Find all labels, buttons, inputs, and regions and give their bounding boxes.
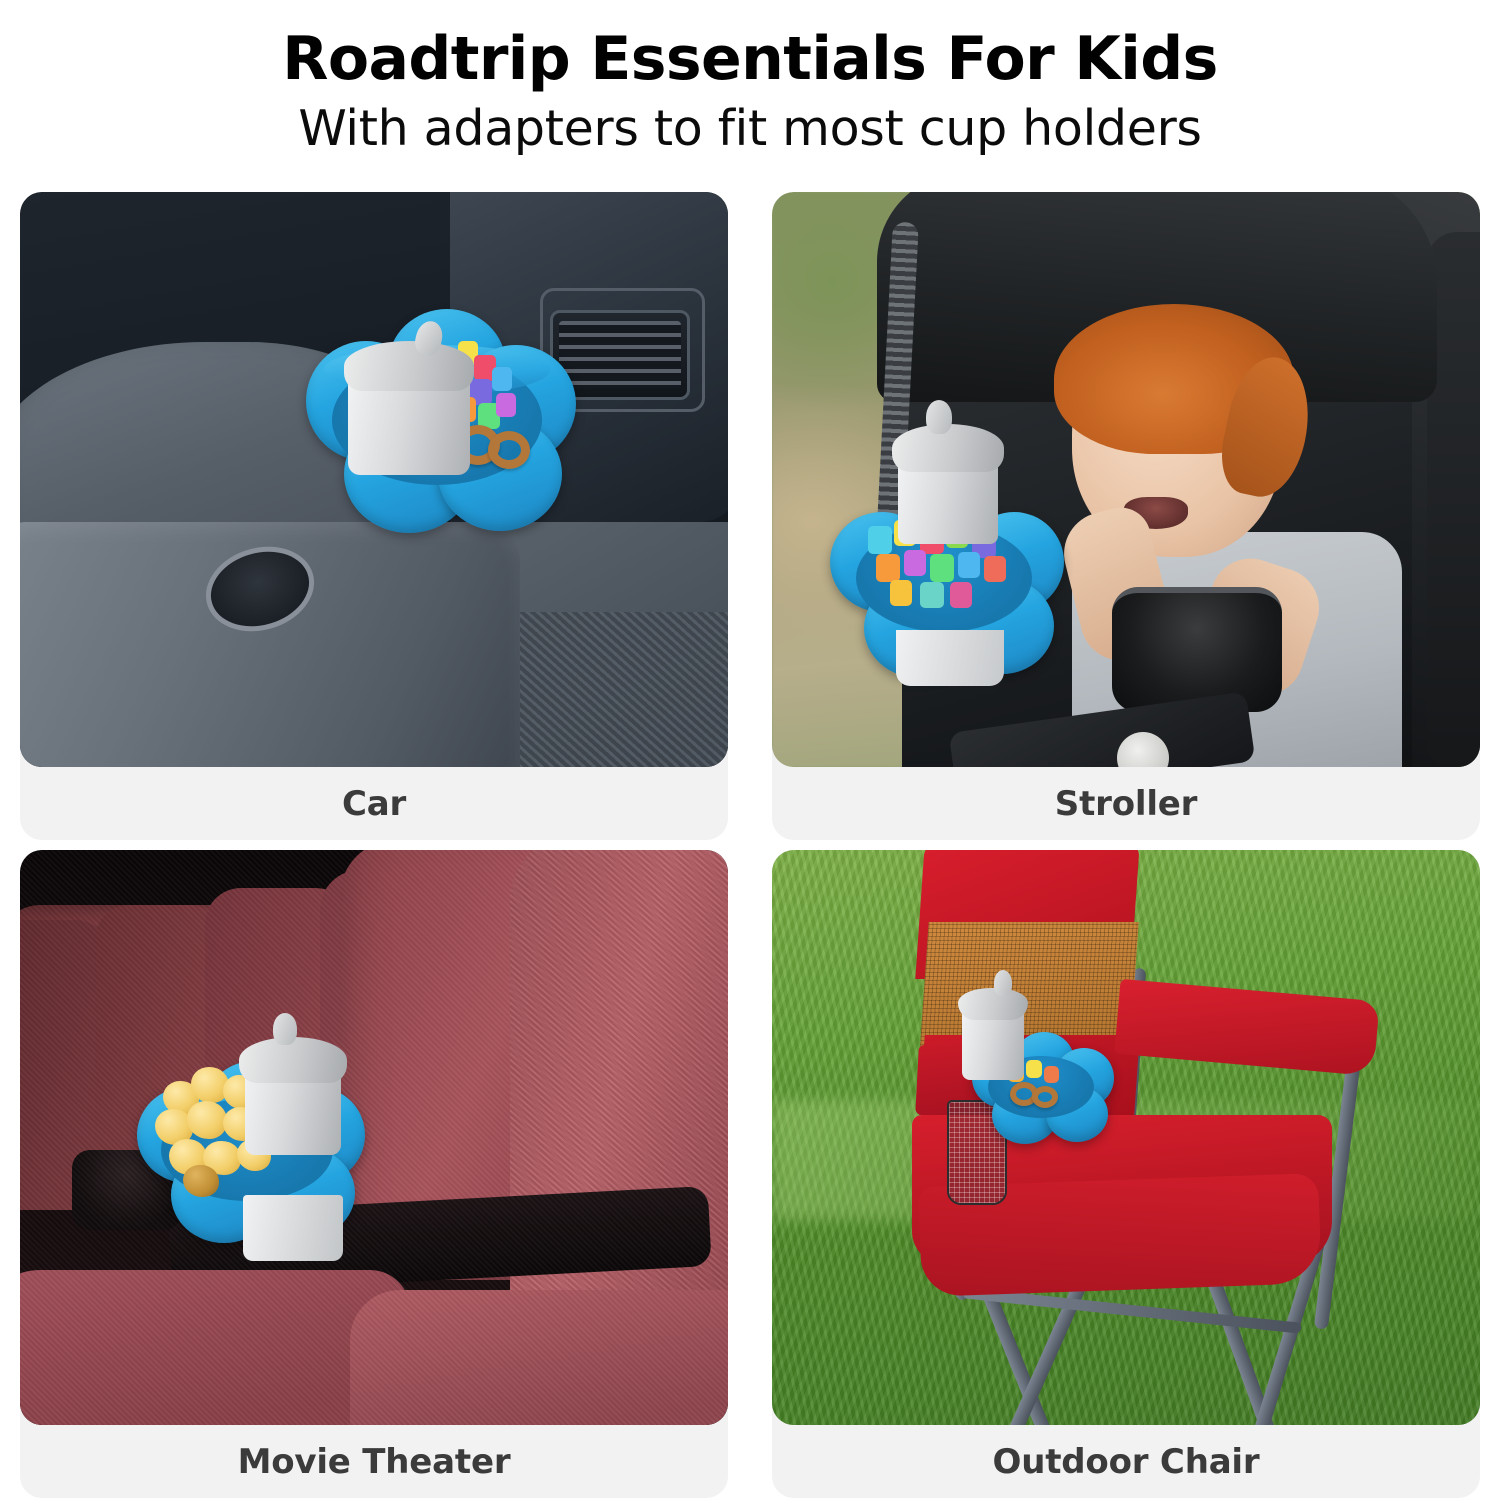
use-case-card-stroller[interactable]: Stroller <box>772 192 1480 840</box>
outdoor-scene <box>772 850 1480 1425</box>
gummy-snack <box>958 552 980 578</box>
sippy-cup-lid <box>958 988 1028 1020</box>
gummy-snack <box>984 556 1006 582</box>
snack-tray-product-stroller <box>824 482 1064 682</box>
snack-tray-product-outdoor <box>970 1030 1120 1150</box>
gummy-snack <box>868 526 892 554</box>
sippy-cup-spout <box>926 400 952 434</box>
sippy-cup-spout <box>994 970 1012 996</box>
snack-piece <box>1026 1060 1042 1078</box>
cup-holder-adapter <box>896 630 1004 686</box>
sippy-cup-lid <box>892 424 1004 472</box>
theater-overall-texture <box>20 850 728 1425</box>
gummy-snack <box>890 580 912 606</box>
photo-movie-theater <box>20 850 728 1425</box>
snack-piece <box>1044 1066 1059 1083</box>
caption-label-movie-theater: Movie Theater <box>238 1442 511 1482</box>
caption-bar-outdoor-chair: Outdoor Chair <box>772 1425 1480 1498</box>
cup-holder-adapter <box>243 1195 343 1261</box>
theater-scene <box>20 850 728 1425</box>
sippy-cup-spout <box>273 1013 297 1045</box>
gummy-snack <box>876 554 900 582</box>
caption-bar-car: Car <box>20 767 728 840</box>
use-case-card-outdoor-chair[interactable]: Outdoor Chair <box>772 850 1480 1498</box>
caption-label-outdoor-chair: Outdoor Chair <box>993 1442 1260 1482</box>
use-case-card-car[interactable]: Car <box>20 192 728 840</box>
car-interior-scene <box>20 192 728 767</box>
caption-bar-movie-theater: Movie Theater <box>20 1425 728 1498</box>
snack-tray-product-car <box>288 305 578 545</box>
use-case-card-movie-theater[interactable]: Movie Theater <box>20 850 728 1498</box>
gummy-snack <box>920 582 944 608</box>
infographic-page: Roadtrip Essentials For Kids With adapte… <box>0 0 1500 1500</box>
header: Roadtrip Essentials For Kids With adapte… <box>0 0 1500 192</box>
gummy-snack <box>930 554 954 582</box>
gummy-snack <box>496 393 516 417</box>
caption-label-car: Car <box>342 784 406 824</box>
pretzel-snack <box>488 431 530 469</box>
stroller-scene <box>772 192 1480 767</box>
sippy-cup-lid <box>239 1037 347 1083</box>
snack-tray-product-theater <box>133 1055 368 1255</box>
stroller-cup-holder <box>1112 587 1282 712</box>
photo-car <box>20 192 728 767</box>
page-title: Roadtrip Essentials For Kids <box>0 22 1500 96</box>
photo-stroller <box>772 192 1480 767</box>
page-subtitle: With adapters to fit most cup holders <box>0 96 1500 162</box>
caption-bar-stroller: Stroller <box>772 767 1480 840</box>
sippy-cup-lid <box>344 341 474 391</box>
caption-label-stroller: Stroller <box>1055 784 1197 824</box>
popcorn-piece <box>183 1165 219 1197</box>
gummy-snack <box>904 550 926 576</box>
gummy-snack <box>492 367 512 391</box>
pretzel-snack <box>1032 1086 1058 1108</box>
use-case-grid: Car <box>20 192 1480 1498</box>
gummy-snack <box>950 582 972 608</box>
popcorn-piece <box>187 1101 227 1139</box>
photo-outdoor-chair <box>772 850 1480 1425</box>
